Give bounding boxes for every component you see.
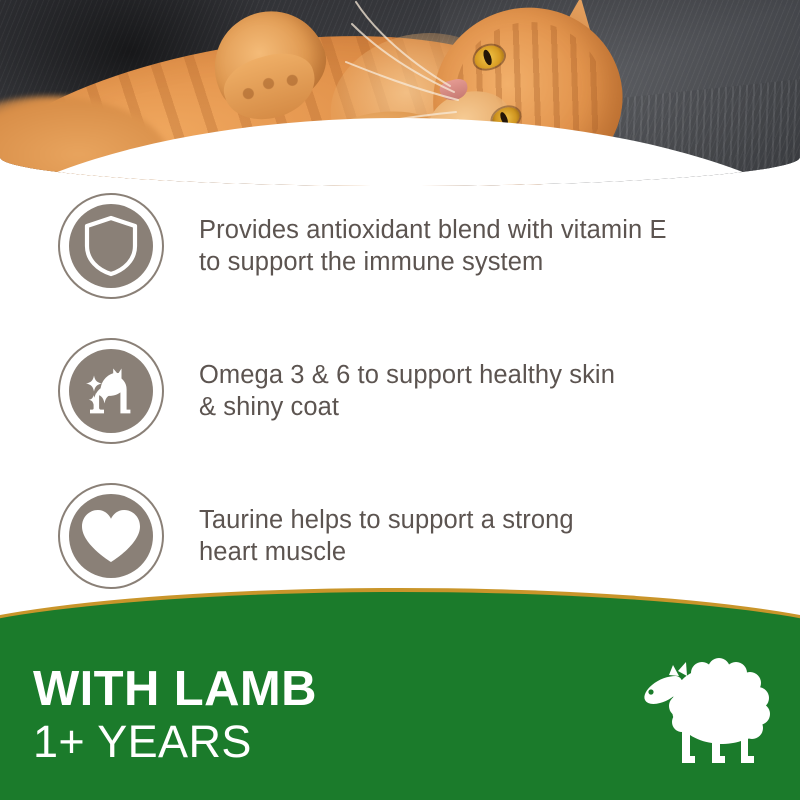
benefit-icon-badge [58, 338, 164, 444]
cat-sparkle-icon [80, 362, 142, 420]
pack-benefit-panel: Provides antioxidant blend with vitamin … [0, 0, 800, 800]
hero-photo-band [0, 0, 800, 200]
benefit-text: Omega 3 & 6 to support healthy skin & sh… [199, 359, 615, 423]
ginger-cat-photo [0, 0, 800, 186]
benefit-text: Taurine helps to support a strong heart … [199, 504, 574, 568]
benefit-text: Provides antioxidant blend with vitamin … [199, 214, 667, 278]
bottom-banner: WITH LAMB 1+ YEARS [0, 588, 800, 800]
benefit-icon-badge [58, 193, 164, 299]
banner-variant-label: WITH LAMB [33, 665, 317, 715]
benefit-row: Omega 3 & 6 to support healthy skin & sh… [58, 331, 758, 451]
banner-age-label: 1+ YEARS [33, 718, 317, 766]
benefit-icon-badge [58, 483, 164, 589]
sheep-icon [624, 646, 774, 772]
shield-icon [83, 215, 139, 277]
benefit-row: Taurine helps to support a strong heart … [58, 476, 758, 596]
heart-icon [80, 508, 142, 564]
sheep-icon-wrap [624, 646, 774, 772]
banner-text-block: WITH LAMB 1+ YEARS [33, 665, 317, 766]
benefit-row: Provides antioxidant blend with vitamin … [58, 186, 758, 306]
